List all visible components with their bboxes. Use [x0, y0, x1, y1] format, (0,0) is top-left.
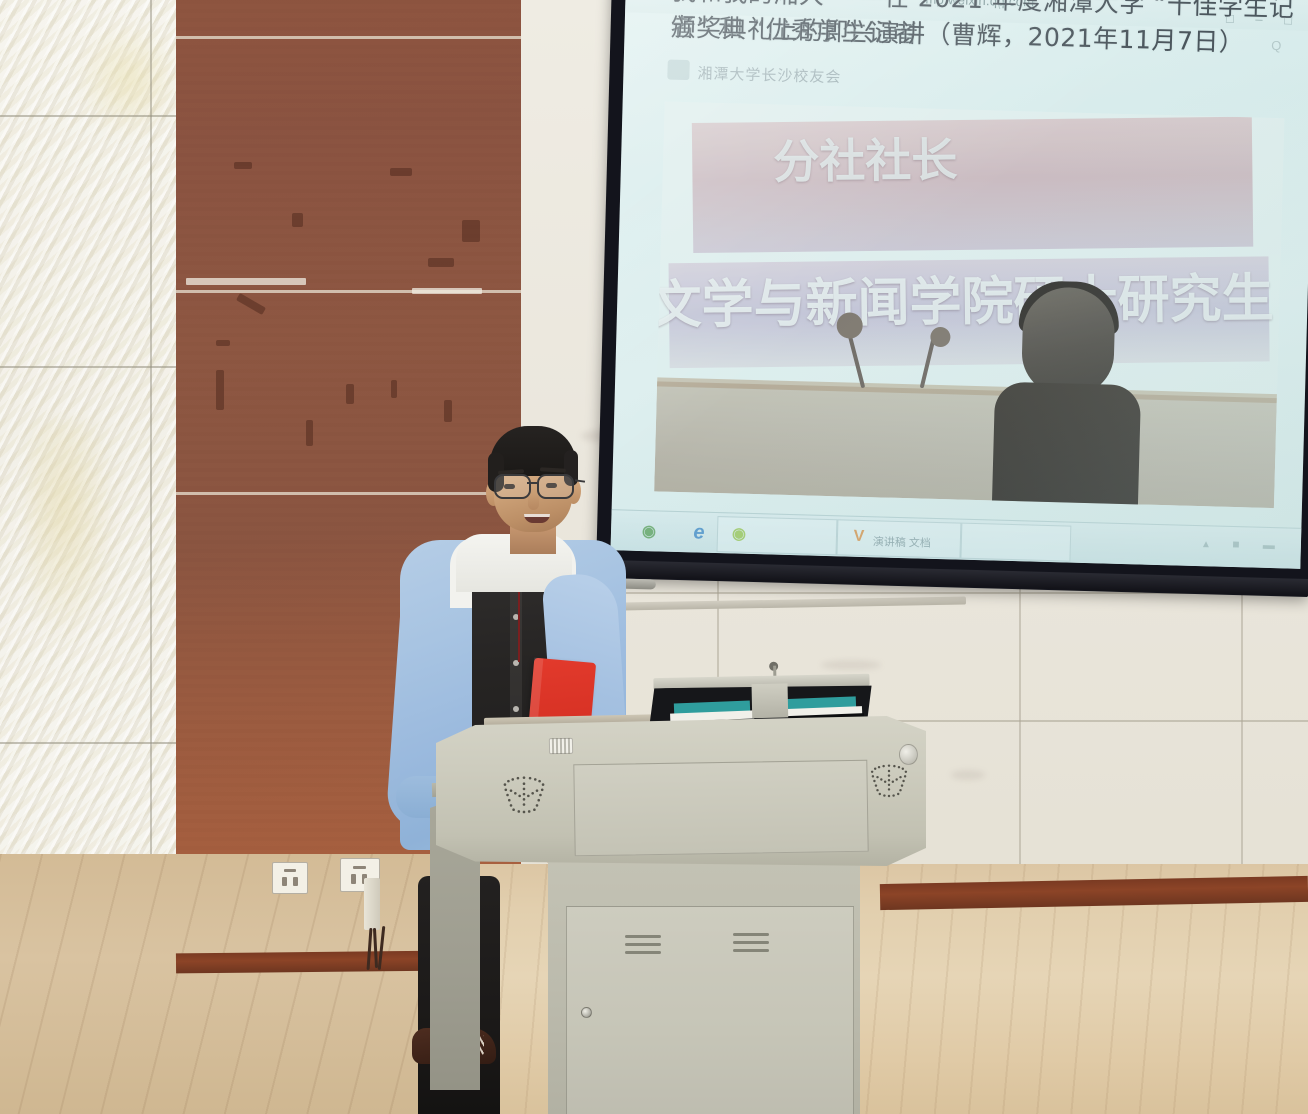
monitor-hinge	[752, 683, 789, 718]
wood-chip	[186, 278, 306, 285]
photo-overlay-text-1: 分社社长	[773, 124, 958, 192]
wood-scuff	[234, 162, 252, 169]
wood-scuff	[236, 293, 266, 315]
account-avatar	[667, 60, 690, 81]
photo-overlay-text-2: 文学与新闻学院硕士研究生	[654, 256, 1274, 338]
browser-window-icon[interactable]: ◉	[727, 521, 752, 546]
wood-scuff	[390, 168, 412, 176]
glasses-temple	[575, 479, 585, 482]
photo-speaker-figure	[984, 285, 1150, 504]
wall-smudge	[821, 660, 881, 670]
glasses-bridge	[527, 482, 537, 484]
wood-scuff	[444, 400, 452, 422]
wood-scuff	[391, 380, 397, 398]
equipment-cabinet-door[interactable]	[566, 906, 854, 1114]
cabinet-vent-left	[625, 935, 661, 961]
podium-front-panel	[573, 760, 868, 857]
taskbar-window-label[interactable]: 演讲稿 文档	[873, 533, 931, 551]
lanyard-cord	[518, 590, 520, 662]
media-player-icon[interactable]: V	[847, 525, 872, 550]
wall-smudge	[951, 770, 985, 780]
eyeglasses	[490, 474, 580, 496]
wood-scuff	[428, 258, 454, 267]
wood-scuff	[216, 370, 224, 410]
wood-scuff	[346, 384, 354, 404]
wood-scuff	[306, 420, 313, 446]
wood-seam	[176, 36, 521, 39]
wood-scuff	[216, 340, 230, 346]
cable-conduit	[364, 878, 380, 930]
photo-speaker-body	[992, 382, 1141, 509]
projection-screen: mp.weixin.qq.com ⋮ ⟨ ☆ □ – □ Q 我和我的湘大 ——…	[596, 0, 1308, 597]
wood-chip	[412, 288, 482, 294]
taskbar-group-3[interactable]	[960, 523, 1071, 562]
speaker-nose	[528, 494, 539, 510]
cabinet-vent-right	[733, 933, 769, 959]
internet-explorer-icon[interactable]: e	[687, 520, 712, 545]
slide-photo: 分社社长 文学与新闻学院硕士研究生	[654, 101, 1284, 508]
photo-speaker-head	[1021, 286, 1116, 396]
system-tray-icons[interactable]: ▴ ■ ▬	[1203, 536, 1285, 552]
wechat-account-name: 湘潭大学长沙校友会	[697, 62, 842, 87]
glasses-lens-right	[537, 474, 574, 499]
wood-scuff	[292, 213, 303, 227]
wood-scuff	[462, 220, 480, 242]
perforated-trapezoid-logo-right	[866, 760, 912, 802]
cabinet-lock[interactable]	[581, 1007, 592, 1018]
projection-screen-surface: mp.weixin.qq.com ⋮ ⟨ ☆ □ – □ Q 我和我的湘大 ——…	[611, 0, 1308, 569]
perforated-trapezoid-logo-left	[498, 772, 550, 818]
start-orb-icon[interactable]: ◉	[637, 519, 662, 544]
shirt-button	[513, 706, 519, 712]
glasses-lens-left	[494, 474, 531, 499]
wall-outlet-left	[272, 862, 308, 894]
photo-conference-table	[654, 381, 1277, 508]
windows-taskbar[interactable]: ◉ e ◉ V 演讲稿 文档 ▴ ■ ▬	[611, 509, 1302, 569]
marble-stain-2	[74, 20, 184, 140]
marble-stain-1	[28, 420, 118, 650]
scene-root: mp.weixin.qq.com ⋮ ⟨ ☆ □ – □ Q 我和我的湘大 ——…	[0, 0, 1308, 1114]
podium-nameplate	[549, 738, 573, 754]
